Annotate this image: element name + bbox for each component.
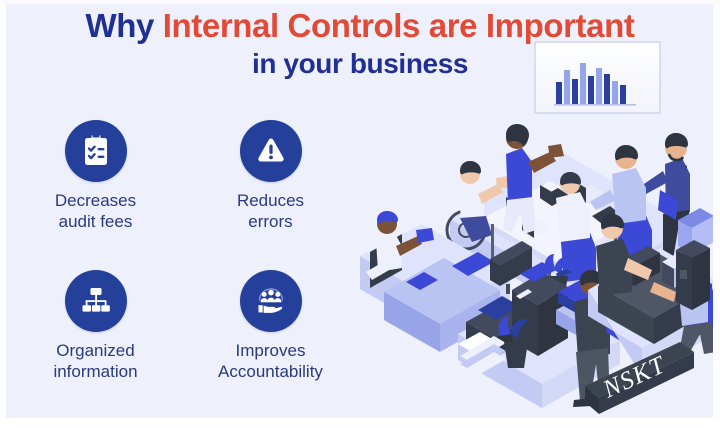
benefit-label-line-1: Improves bbox=[218, 341, 323, 362]
benefit-label: Improves Accountability bbox=[218, 341, 323, 382]
headline-why: Why bbox=[86, 7, 163, 44]
benefits-grid: Decreases audit fees Reduces errors bbox=[8, 118, 358, 418]
canvas-edge-top bbox=[0, 0, 720, 4]
water-cooler bbox=[676, 208, 714, 310]
canvas-edge-left bbox=[0, 0, 6, 428]
benefit-label-line-2: audit fees bbox=[55, 212, 136, 233]
benefit-label-line-1: Decreases bbox=[55, 191, 136, 212]
canvas-edge-right bbox=[713, 0, 720, 428]
benefit-label-line-1: Organized bbox=[53, 341, 137, 362]
benefit-label: Reduces errors bbox=[237, 191, 304, 232]
benefit-label: Decreases audit fees bbox=[55, 191, 136, 232]
benefit-label-line-2: information bbox=[53, 362, 137, 383]
canvas-edge-bottom bbox=[0, 418, 720, 428]
benefit-improves-accountability: Improves Accountability bbox=[183, 268, 358, 418]
benefit-label-line-1: Reduces bbox=[237, 191, 304, 212]
clipboard-check-icon bbox=[65, 120, 127, 182]
benefit-organized-information: Organized information bbox=[8, 268, 183, 418]
benefit-label: Organized information bbox=[53, 341, 137, 382]
benefit-reduces-errors: Reduces errors bbox=[183, 118, 358, 268]
hand-people-icon bbox=[240, 270, 302, 332]
benefit-label-line-2: Accountability bbox=[218, 362, 323, 383]
warning-triangle-icon bbox=[240, 120, 302, 182]
benefit-label-line-2: errors bbox=[237, 212, 304, 233]
isometric-office-illustration: NSKT bbox=[360, 34, 718, 420]
presentation-screen bbox=[535, 42, 660, 113]
benefit-decreases-audit-fees: Decreases audit fees bbox=[8, 118, 183, 268]
org-chart-icon bbox=[65, 270, 127, 332]
infographic-canvas: Why Internal Controls are Important in y… bbox=[0, 0, 720, 428]
